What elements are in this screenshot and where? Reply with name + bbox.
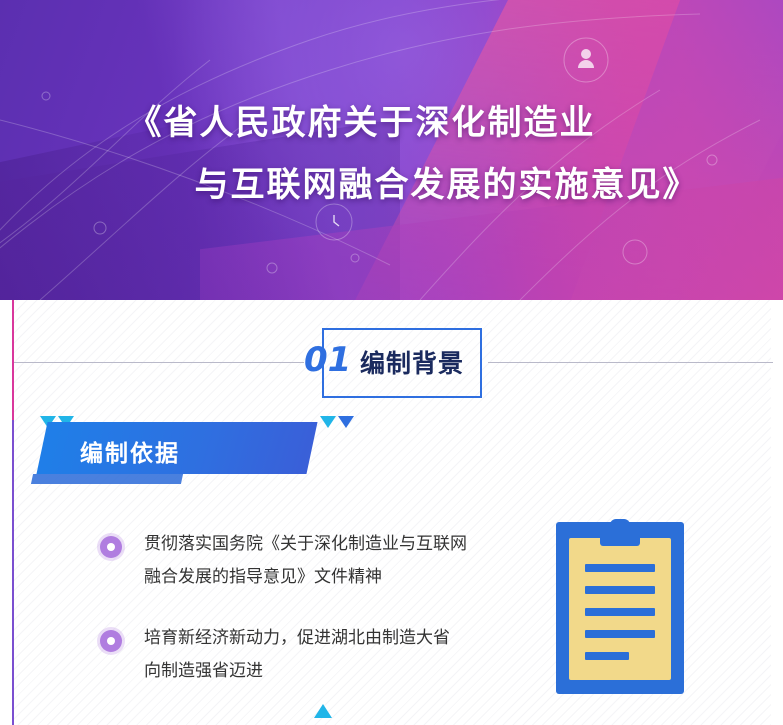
content-panel: 01 编制背景 编制依据 贯彻落实国务院《关于深化制造业与互联网 融合发展的指导…: [12, 300, 771, 725]
list-item: 贯彻落实国务院《关于深化制造业与互联网 融合发展的指导意见》文件精神: [100, 528, 520, 594]
clipboard-line: [585, 564, 655, 572]
section-title: 编制背景: [360, 344, 464, 380]
clipboard-clip: [600, 526, 640, 546]
clipboard-line: [585, 630, 655, 638]
section-number: 01: [304, 340, 351, 380]
triangle-marker-cyan-3: [320, 416, 336, 428]
clipboard-line: [585, 652, 629, 660]
clipboard-icon: [556, 522, 684, 694]
bullet-list: 贯彻落实国务院《关于深化制造业与互联网 融合发展的指导意见》文件精神 培育新经济…: [100, 528, 520, 716]
clock-circle-icon: [334, 215, 339, 226]
header-banner: 《省人民政府关于深化制造业 与互联网融合发展的实施意见》: [0, 0, 783, 300]
section-divider-left: [14, 362, 304, 363]
bullet-dot-icon: [100, 630, 122, 652]
triangle-marker-bottom: [314, 704, 332, 718]
section-heading: 01 编制背景: [304, 328, 484, 398]
list-item: 培育新经济新动力，促进湖北由制造大省 向制造强省迈进: [100, 622, 520, 688]
bullet-dot-icon: [100, 536, 122, 558]
user-circle-icon: [578, 49, 594, 68]
list-item-text: 培育新经济新动力，促进湖北由制造大省 向制造强省迈进: [144, 622, 520, 688]
clipboard-line: [585, 586, 655, 594]
clipboard-paper: [569, 538, 671, 680]
page-title-line1: 《省人民政府关于深化制造业: [0, 92, 783, 154]
page-title-line2: 与互联网融合发展的实施意见》: [0, 154, 783, 216]
section-divider-right: [488, 362, 773, 363]
ribbon-tail: [31, 474, 183, 484]
subsection-label: 编制依据: [80, 434, 180, 468]
clipboard-line: [585, 608, 655, 616]
page-title: 《省人民政府关于深化制造业 与互联网融合发展的实施意见》: [0, 92, 783, 216]
triangle-marker-blue-1: [338, 416, 354, 428]
list-item-text: 贯彻落实国务院《关于深化制造业与互联网 融合发展的指导意见》文件精神: [144, 528, 520, 594]
